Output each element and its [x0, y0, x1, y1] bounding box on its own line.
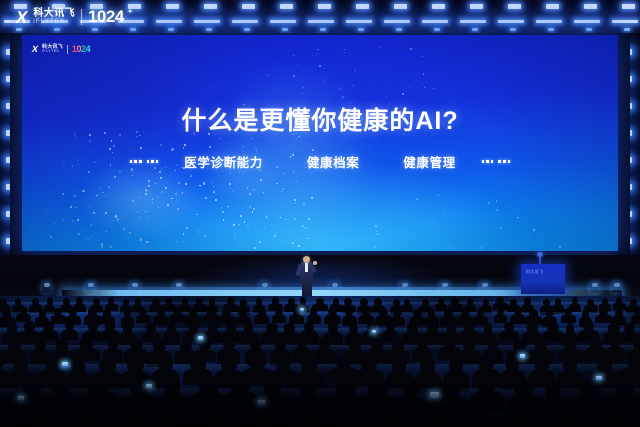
- screen-iflytek-x-icon: X: [31, 44, 39, 54]
- podium: 科大讯飞: [521, 264, 565, 294]
- keyword-health-management: 健康管理: [381, 152, 477, 171]
- banner-event-number: 1024: [88, 7, 124, 27]
- keynote-speaker: [297, 256, 317, 296]
- banner-brand-en: iFLYTEK: [33, 19, 75, 25]
- sparkle-icon: ✦: [127, 7, 134, 16]
- led-screen: X 科大讯飞 iFLYTEK 1024 什么是更懂你健康的AI? 医学诊断能力 …: [22, 35, 618, 251]
- iflytek-x-icon: X: [14, 9, 29, 26]
- screen-num-4: 4: [86, 44, 91, 54]
- speaker-legs: [302, 281, 312, 296]
- conference-photo: X 科大讯飞 iFLYTEK 1024 ✦ X 科大讯飞 iFLYTEK 102…: [0, 0, 640, 427]
- speaker-head: [303, 256, 310, 263]
- screen-logo: X 科大讯飞 iFLYTEK 1024: [32, 44, 90, 54]
- keyword-health-record: 健康档案: [285, 152, 381, 171]
- slide-title: 什么是更懂你健康的AI?: [22, 101, 618, 137]
- keyword-diagnosis: 医学诊断能力: [162, 152, 285, 171]
- leading-ellipsis-icon: [126, 160, 163, 163]
- banner-logo: X 科大讯飞 iFLYTEK 1024 ✦: [16, 7, 133, 27]
- banner-brand: 科大讯飞 iFLYTEK: [33, 9, 75, 25]
- speaker-shirt: [305, 263, 308, 272]
- screen-logo-separator: [67, 45, 68, 54]
- screen-brand-en: iFLYTEK: [42, 50, 63, 53]
- speaker-hand: [313, 261, 317, 265]
- banner-brand-cn: 科大讯飞: [33, 9, 75, 19]
- screen-brand: 科大讯飞 iFLYTEK: [42, 45, 63, 53]
- audience-area: [0, 296, 640, 427]
- microphone-icon: [539, 255, 541, 264]
- screen-event-number: 1024: [72, 44, 90, 54]
- trailing-ellipsis-icon: [478, 160, 515, 163]
- screen-vignette: [22, 35, 618, 251]
- podium-logo: 科大讯飞: [526, 269, 543, 275]
- audience-foreground-shadow: [0, 369, 640, 427]
- banner-separator: [81, 9, 82, 25]
- slide-keyword-row: 医学诊断能力 健康档案 健康管理: [22, 152, 618, 171]
